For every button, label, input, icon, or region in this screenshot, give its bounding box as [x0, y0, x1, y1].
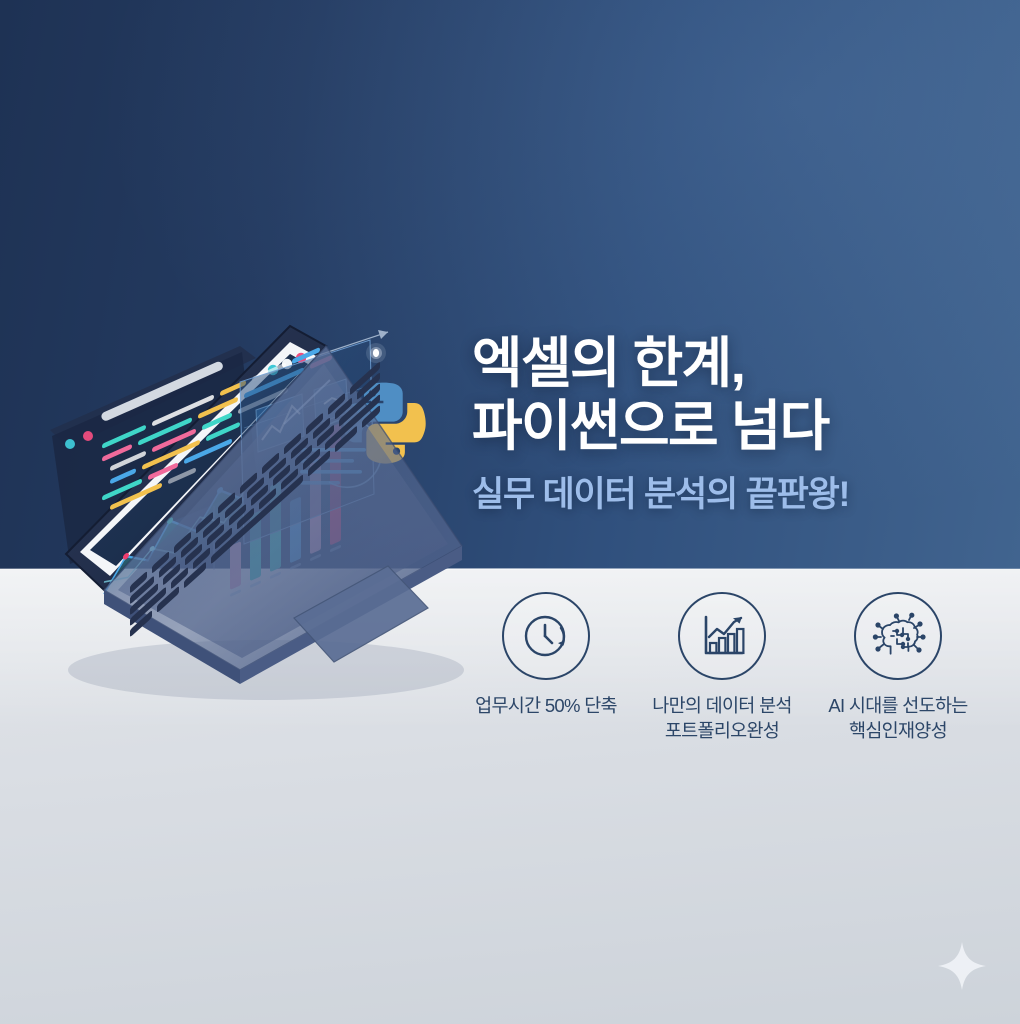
glow-spark-icon — [364, 341, 388, 365]
feature-item-portfolio: 나만의 데이터 분석 포트폴리오완성 — [642, 592, 802, 744]
headline-line-2: 파이썬으로 넘다 — [472, 395, 942, 458]
promo-banner: 엑셀의 한계, 파이썬으로 넘다 실무 데이터 분석의 끝판왕! 업무시간 50… — [0, 0, 1020, 1024]
subheadline: 실무 데이터 분석의 끝판왕! — [472, 466, 942, 517]
feature-label: 나만의 데이터 분석 포트폴리오완성 — [652, 694, 791, 744]
feature-label: 업무시간 50% 단축 — [475, 694, 617, 719]
headline-line-1: 엑셀의 한계, — [472, 332, 942, 395]
sparkle-star-icon — [934, 938, 990, 994]
clock-rotate-icon — [517, 607, 575, 665]
ai-brain-circuit-icon — [869, 607, 927, 665]
feature-badge — [854, 592, 942, 680]
feature-list: 업무시간 50% 단축 나만의 데이터 분석 포트폴리오완성 — [466, 592, 978, 744]
laptop-illustration — [44, 318, 474, 710]
feature-label: AI 시대를 선도하는 핵심인재양성 — [828, 694, 967, 744]
feature-item-ai-talent: AI 시대를 선도하는 핵심인재양성 — [818, 592, 978, 744]
feature-badge — [678, 592, 766, 680]
bar-chart-growth-icon — [693, 607, 751, 665]
feature-item-time-saving: 업무시간 50% 단축 — [466, 592, 626, 719]
feature-badge — [502, 592, 590, 680]
headline-block: 엑셀의 한계, 파이썬으로 넘다 실무 데이터 분석의 끝판왕! — [472, 332, 942, 517]
